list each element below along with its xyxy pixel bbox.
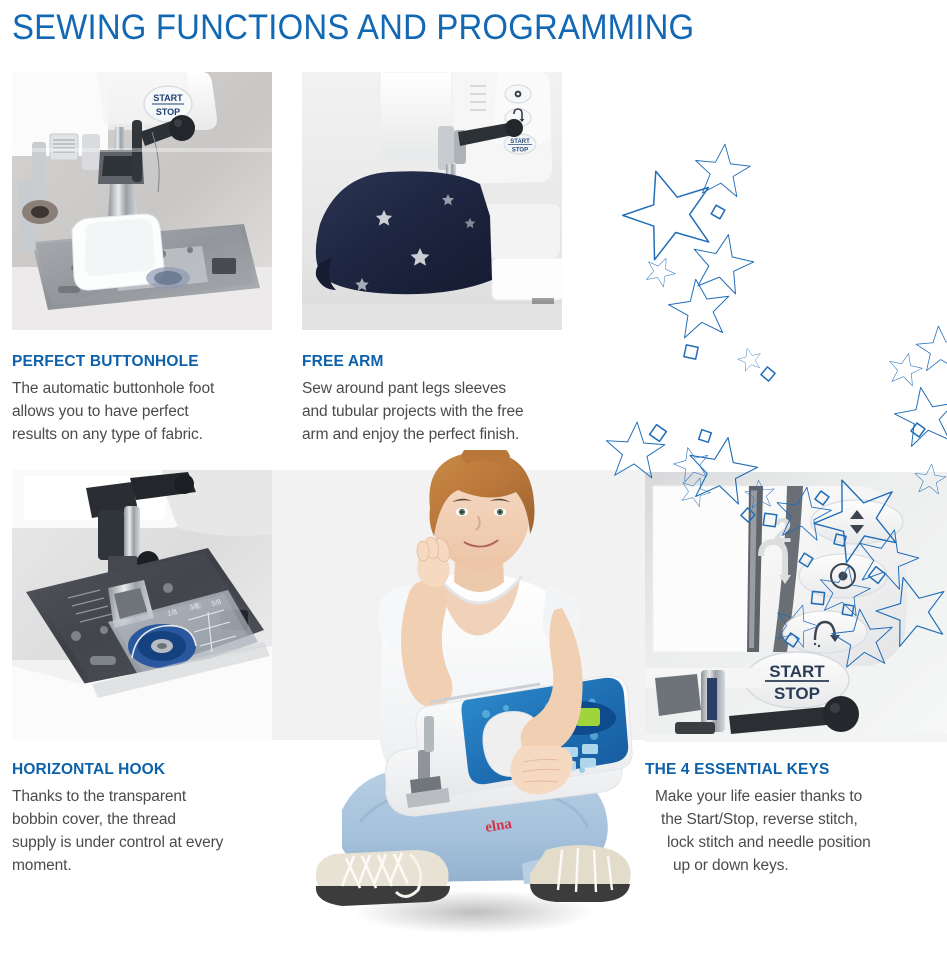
- caption-essential-keys: THE 4 ESSENTIAL KEYS Make your life easi…: [645, 760, 947, 877]
- caption-horizontal-hook: HORIZONTAL HOOK Thanks to the transparen…: [12, 760, 292, 877]
- stop-label: STOP: [774, 684, 820, 703]
- caption-heading: HORIZONTAL HOOK: [12, 760, 292, 779]
- caption-line: the Start/Stop, reverse stitch,: [645, 808, 947, 831]
- caption-heading: PERFECT BUTTONHOLE: [12, 352, 282, 371]
- caption-line: bobbin cover, the thread: [12, 808, 292, 831]
- photo-horizontal-hook: 1/8 3/8 5/8: [12, 470, 272, 740]
- promo-page: SEWING FUNCTIONS AND PROGRAMMING: [0, 0, 947, 965]
- caption-body: The automatic buttonhole foot allows you…: [12, 377, 282, 446]
- caption-body: Make your life easier thanks to the Star…: [645, 785, 947, 877]
- caption-line: arm and enjoy the perfect finish.: [302, 423, 577, 446]
- caption-heading: THE 4 ESSENTIAL KEYS: [645, 760, 947, 779]
- caption-free-arm: FREE ARM Sew around pant legs sleeves an…: [302, 352, 577, 446]
- page-title: SEWING FUNCTIONS AND PROGRAMMING: [12, 8, 694, 48]
- caption-line: Sew around pant legs sleeves: [302, 377, 577, 400]
- caption-line: and tubular projects with the free: [302, 400, 577, 423]
- caption-line: Make your life easier thanks to: [645, 785, 947, 808]
- photo-free-arm: START STOP: [302, 72, 562, 330]
- photo-perfect-buttonhole: START STOP: [12, 72, 272, 330]
- caption-line: lock stitch and needle position: [645, 831, 947, 854]
- caption-line: up or down keys.: [645, 854, 947, 877]
- caption-line: moment.: [12, 854, 292, 877]
- start-label: START: [769, 662, 825, 681]
- caption-body: Sew around pant legs sleeves and tubular…: [302, 377, 577, 446]
- caption-heading: FREE ARM: [302, 352, 577, 371]
- photo-essential-keys: 2: [645, 472, 947, 742]
- caption-line: supply is under control at every: [12, 831, 292, 854]
- caption-body: Thanks to the transparent bobbin cover, …: [12, 785, 292, 877]
- svg-text:START: START: [510, 139, 530, 145]
- svg-text:STOP: STOP: [512, 148, 528, 154]
- caption-perfect-buttonhole: PERFECT BUTTONHOLE The automatic buttonh…: [12, 352, 282, 446]
- caption-line: Thanks to the transparent: [12, 785, 292, 808]
- caption-line: The automatic buttonhole foot: [12, 377, 282, 400]
- model-photo: elna: [290, 450, 650, 940]
- svg-text:START: START: [153, 93, 183, 103]
- svg-text:STOP: STOP: [156, 107, 180, 117]
- caption-line: allows you to have perfect: [12, 400, 282, 423]
- caption-line: results on any type of fabric.: [12, 423, 282, 446]
